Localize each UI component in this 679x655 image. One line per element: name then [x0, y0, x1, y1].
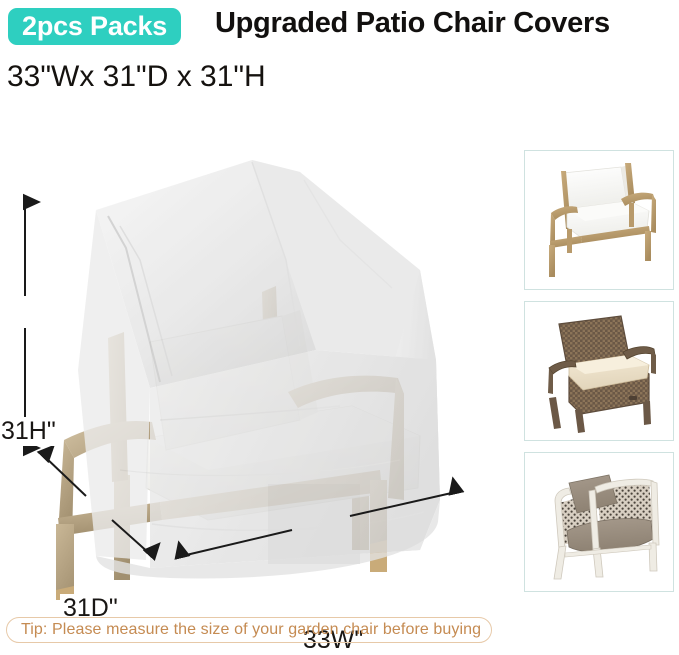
height-dimension-label: 31H" [0, 417, 57, 446]
product-title: Upgraded Patio Chair Covers [215, 7, 610, 40]
header: 2pcs Packs Upgraded Patio Chair Covers 3… [0, 0, 679, 110]
protective-cover-graphic [78, 160, 440, 578]
pack-quantity-badge: 2pcs Packs [8, 8, 181, 45]
product-infographic: 2pcs Packs Upgraded Patio Chair Covers 3… [0, 0, 679, 646]
metal-mesh-chair-icon [525, 453, 673, 591]
wicker-rattan-chair-icon [525, 302, 673, 440]
thumbnail-wicker-rattan-chair[interactable] [524, 301, 674, 441]
product-dimensions-subtitle: 33"Wx 31"D x 31"H [7, 60, 266, 94]
wood-frame-chair-icon [525, 151, 673, 289]
thumbnail-metal-mesh-chair[interactable] [524, 452, 674, 592]
tip-banner: Tip: Please measure the size of your gar… [6, 617, 492, 643]
thumbnail-wood-frame-chair[interactable] [524, 150, 674, 290]
hero-illustration: 31H" 31D" 33W" [0, 120, 500, 600]
covered-chair-diagram [0, 120, 500, 600]
compatible-chairs-gallery [524, 150, 676, 600]
tip-text: Tip: Please measure the size of your gar… [21, 621, 481, 639]
